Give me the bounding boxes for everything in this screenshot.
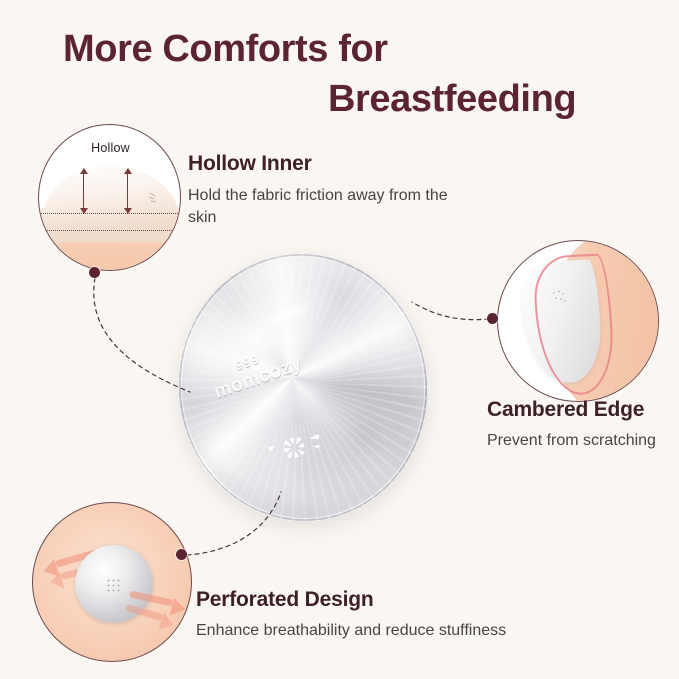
cambered-perforation-dots (550, 289, 570, 305)
hollow-inset-label: Hollow (39, 141, 181, 155)
hollow-reference-line-bottom (39, 230, 181, 231)
hollow-measure-arrow-left (83, 169, 84, 213)
product-nipple-shield-disc: 999 momcozy (165, 241, 442, 535)
inset-cambered-edge (497, 240, 659, 402)
inset-perforated-design (32, 502, 192, 662)
connector-dot-perforated (176, 549, 187, 560)
inset-hollow-cross-section: Hollow (38, 124, 181, 271)
feature-heading-perforated-design: Perforated Design (196, 588, 373, 612)
perforation-flower-pattern (265, 423, 330, 471)
page-title-line-2: Breastfeeding (328, 78, 576, 122)
page-title-line-1: More Comforts for (63, 28, 388, 72)
connector-dot-cambered (487, 313, 498, 324)
engraving-purity-999: 999 (233, 351, 261, 373)
feature-body-hollow-inner: Hold the fabric friction away from the s… (188, 185, 468, 228)
feature-heading-cambered-edge: Cambered Edge (487, 398, 644, 422)
cambered-edge-highlight-outline (532, 253, 615, 397)
hollow-reference-line-top (39, 213, 181, 214)
feature-body-cambered-edge: Prevent from scratching (487, 430, 667, 452)
infographic-canvas: More Comforts for Breastfeeding 999 momc… (0, 0, 679, 679)
leader-line-cambered (412, 302, 489, 320)
engraving-brand-momcozy: momcozy (212, 353, 305, 403)
product-gloss-highlight (256, 295, 319, 333)
leader-line-hollow (94, 278, 190, 392)
feature-heading-hollow-inner: Hollow Inner (188, 152, 312, 176)
hollow-texture-marks (148, 191, 166, 205)
connector-dot-hollow (89, 267, 100, 278)
feature-body-perforated-design: Enhance breathability and reduce stuffin… (196, 620, 626, 642)
hollow-measure-arrow-right (127, 169, 128, 213)
